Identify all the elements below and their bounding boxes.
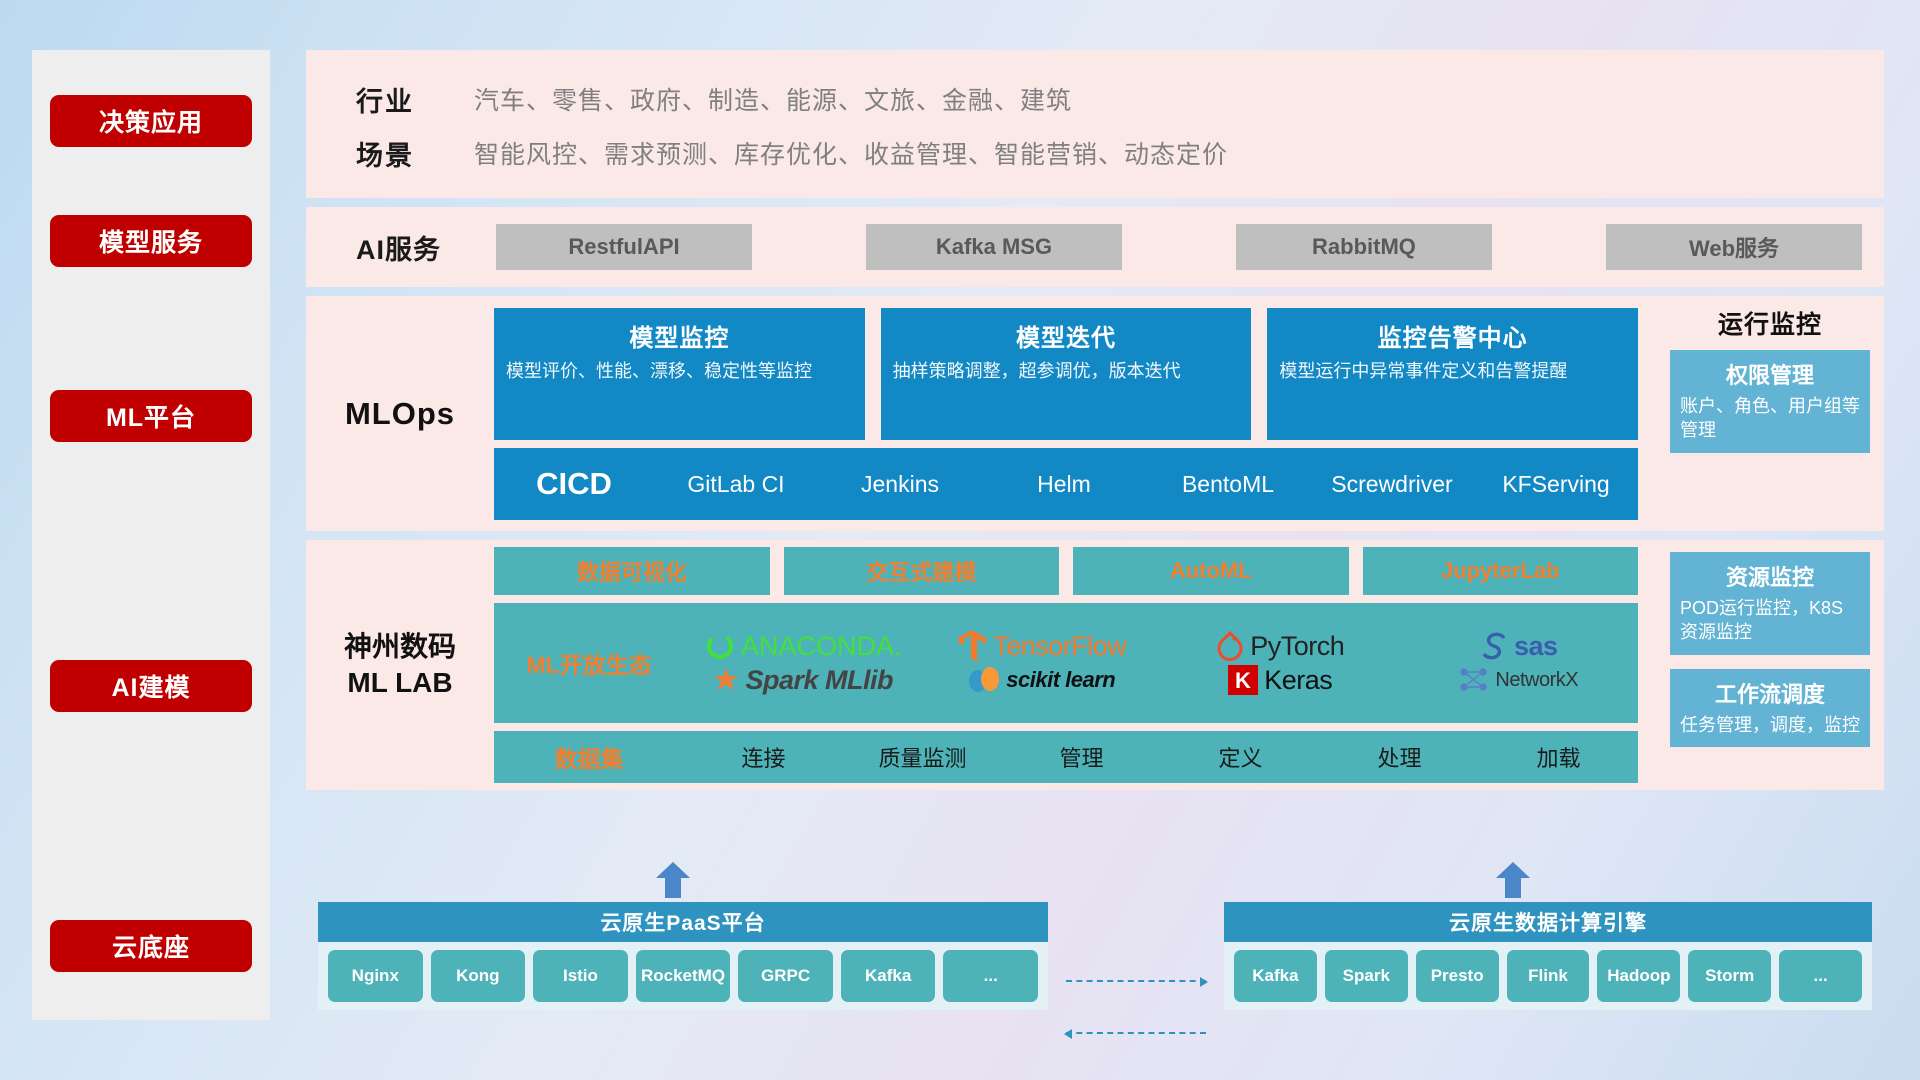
band-decision-applications: 行业 汽车、零售、政府、制造、能源、文旅、金融、建筑 场景 智能风控、需求预测、… [306, 50, 1884, 198]
sidebar-item-model-service[interactable]: 模型服务 [50, 215, 252, 267]
paas-title: 云原生PaaS平台 [318, 902, 1048, 942]
card-desc: 账户、角色、用户组等管理 [1680, 394, 1860, 443]
layer-rail: 决策应用 模型服务 ML平台 AI建模 云底座 [32, 50, 270, 1020]
cloud-block-paas: 云原生PaaS平台 Nginx Kong Istio RocketMQ GRPC… [318, 902, 1048, 1010]
sidebar-item-ai-modeling[interactable]: AI建模 [50, 660, 252, 712]
paas-chip-more[interactable]: ... [943, 950, 1038, 1002]
ml-lab-label-line2: ML LAB [306, 665, 494, 701]
monitor-card-permission[interactable]: 权限管理 账户、角色、用户组等管理 [1670, 350, 1870, 453]
spark-wordmark: Spark MLlib [745, 665, 893, 696]
monitor-column-top: 运行监控 权限管理 账户、角色、用户组等管理 [1656, 296, 1884, 531]
monitor-column-bottom: 资源监控 POD运行监控，K8S资源监控 工作流调度 任务管理，调度，监控 [1656, 540, 1884, 790]
mlops-body: 模型监控 模型评价、性能、漂移、稳定性等监控 模型迭代 抽样策略调整，超参调优，… [494, 308, 1650, 520]
pytorch-logo: PyTorch [1216, 631, 1344, 662]
card-title: 监控告警中心 [1279, 318, 1626, 353]
paas-chip-rocketmq[interactable]: RocketMQ [636, 950, 731, 1002]
cicd-bar: CICD GitLab CI Jenkins Helm BentoML Scre… [494, 448, 1638, 520]
sas-mark-icon [1480, 632, 1508, 660]
industry-label: 行业 [334, 80, 474, 119]
card-desc: POD运行监控，K8S资源监控 [1680, 596, 1860, 645]
networkx-mark-icon [1459, 666, 1489, 694]
service-chip-rabbitmq[interactable]: RabbitMQ [1236, 224, 1492, 270]
mlops-card-model-iteration[interactable]: 模型迭代 抽样策略调整，超参调优，版本迭代 [881, 308, 1252, 440]
cicd-item-kfserving[interactable]: KFServing [1474, 448, 1638, 520]
paas-chip-nginx[interactable]: Nginx [328, 950, 423, 1002]
tensorflow-wordmark: TensorFlow [993, 631, 1126, 662]
ai-service-chip-track: RestfulAPI Kafka MSG RabbitMQ Web服务 [496, 224, 1884, 270]
service-chip-kafka-msg[interactable]: Kafka MSG [866, 224, 1122, 270]
cloud-block-engine: 云原生数据计算引擎 Kafka Spark Presto Flink Hadoo… [1224, 902, 1872, 1010]
card-title: 权限管理 [1680, 358, 1860, 390]
tab-automl[interactable]: AutoML [1073, 547, 1349, 595]
networkx-logo: NetworkX [1459, 666, 1578, 694]
cicd-label: CICD [494, 466, 654, 502]
band-ai-services: AI服务 RestfulAPI Kafka MSG RabbitMQ Web服务 [306, 207, 1884, 287]
ml-lab-body: 数据可视化 交互式建模 AutoML JupyterLab ML开放生态 ANA… [494, 547, 1650, 783]
mlops-card-alert-center[interactable]: 监控告警中心 模型运行中异常事件定义和告警提醒 [1267, 308, 1638, 440]
mlops-left: MLOps 模型监控 模型评价、性能、漂移、稳定性等监控 模型迭代 抽样策略调整… [306, 296, 1650, 531]
monitor-card-workflow[interactable]: 工作流调度 任务管理，调度，监控 [1670, 669, 1870, 747]
band-mlops: MLOps 模型监控 模型评价、性能、漂移、稳定性等监控 模型迭代 抽样策略调整… [306, 296, 1884, 531]
service-chip-web-service[interactable]: Web服务 [1606, 224, 1862, 270]
networkx-wordmark: NetworkX [1495, 669, 1578, 692]
paas-chip-istio[interactable]: Istio [533, 950, 628, 1002]
cicd-item-screwdriver[interactable]: Screwdriver [1310, 448, 1474, 520]
rail-label: 模型服务 [99, 223, 203, 259]
industry-list: 汽车、零售、政府、制造、能源、文旅、金融、建筑 [474, 81, 1072, 117]
keras-mark-icon: K [1228, 665, 1258, 695]
ml-lab-left: 神州数码 ML LAB 数据可视化 交互式建模 AutoML JupyterLa… [306, 540, 1650, 790]
anaconda-mark-icon [705, 631, 735, 661]
industry-row: 行业 汽车、零售、政府、制造、能源、文旅、金融、建筑 [334, 72, 1884, 126]
sidebar-item-ml-platform[interactable]: ML平台 [50, 390, 252, 442]
mlops-card-model-monitoring[interactable]: 模型监控 模型评价、性能、漂移、稳定性等监控 [494, 308, 865, 440]
mlops-card-row: 模型监控 模型评价、性能、漂移、稳定性等监控 模型迭代 抽样策略调整，超参调优，… [494, 308, 1638, 440]
keras-wordmark: Keras [1264, 665, 1332, 696]
scikit-learn-wordmark: scikit learn [1006, 667, 1115, 693]
dataset-item-process[interactable]: 处理 [1320, 741, 1479, 773]
up-arrow-icon-paas [656, 862, 690, 898]
cicd-item-jenkins[interactable]: Jenkins [818, 448, 982, 520]
ai-service-label: AI服务 [356, 228, 496, 267]
engine-chip-track: Kafka Spark Presto Flink Hadoop Storm ..… [1224, 942, 1872, 1010]
dataset-item-manage[interactable]: 管理 [1002, 741, 1161, 773]
card-title: 工作流调度 [1680, 677, 1860, 709]
paas-chip-kafka[interactable]: Kafka [841, 950, 936, 1002]
rail-label: ML平台 [106, 398, 196, 434]
spark-star-icon [713, 667, 739, 693]
cloud-foundation-section: 云原生PaaS平台 Nginx Kong Istio RocketMQ GRPC… [306, 880, 1884, 1025]
paas-chip-track: Nginx Kong Istio RocketMQ GRPC Kafka ... [318, 942, 1048, 1010]
sas-logo: sas [1480, 631, 1558, 662]
paas-chip-kong[interactable]: Kong [431, 950, 526, 1002]
tensorflow-mark-icon [957, 629, 987, 663]
rail-label: 云底座 [112, 928, 190, 964]
dataset-bar: 数据集 连接 质量监测 管理 定义 处理 加载 [494, 731, 1638, 783]
dataset-item-define[interactable]: 定义 [1161, 741, 1320, 773]
sidebar-item-cloud-base[interactable]: 云底座 [50, 920, 252, 972]
engine-chip-kafka[interactable]: Kafka [1234, 950, 1317, 1002]
ml-ecosystem-label: ML开放生态 [494, 646, 684, 680]
cicd-item-bentoml[interactable]: BentoML [1146, 448, 1310, 520]
tab-interactive-modeling[interactable]: 交互式建模 [784, 547, 1060, 595]
dataset-label: 数据集 [494, 740, 684, 774]
sas-wordmark: sas [1514, 631, 1558, 662]
cicd-item-track: GitLab CI Jenkins Helm BentoML Screwdriv… [654, 448, 1638, 520]
anaconda-wordmark: ANACONDA. [741, 631, 902, 662]
rail-label: AI建模 [111, 668, 190, 704]
card-desc: 模型评价、性能、漂移、稳定性等监控 [506, 359, 853, 384]
engine-chip-flink[interactable]: Flink [1507, 950, 1590, 1002]
rail-label: 决策应用 [99, 103, 203, 139]
ml-ecosystem-logo-grid: ANACONDA. TensorFlow [684, 629, 1638, 697]
pytorch-wordmark: PyTorch [1250, 631, 1344, 662]
dataset-item-quality[interactable]: 质量监测 [843, 741, 1002, 773]
ml-lab-label: 神州数码 ML LAB [306, 629, 494, 702]
cicd-item-gitlab-ci[interactable]: GitLab CI [654, 448, 818, 520]
svg-text:K: K [1235, 668, 1251, 693]
card-desc: 抽样策略调整，超参调优，版本迭代 [893, 359, 1240, 384]
sidebar-item-decision-app[interactable]: 决策应用 [50, 95, 252, 147]
card-title: 模型监控 [506, 318, 853, 353]
scikit-learn-mark-icon [968, 666, 1000, 694]
tab-jupyterlab[interactable]: JupyterLab [1363, 547, 1639, 595]
engine-chip-more[interactable]: ... [1779, 950, 1862, 1002]
pytorch-mark-icon [1216, 631, 1244, 661]
monitor-title: 运行监控 [1670, 296, 1870, 350]
dashed-arrow-left [1066, 1032, 1206, 1034]
scenario-label: 场景 [334, 134, 474, 173]
card-desc: 任务管理，调度，监控 [1680, 713, 1860, 737]
card-title: 模型迭代 [893, 318, 1240, 353]
service-chip-restfulapi[interactable]: RestfulAPI [496, 224, 752, 270]
dataset-item-connect[interactable]: 连接 [684, 741, 843, 773]
architecture-main: 行业 汽车、零售、政府、制造、能源、文旅、金融、建筑 场景 智能风控、需求预测、… [306, 50, 1884, 790]
cicd-item-helm[interactable]: Helm [982, 448, 1146, 520]
engine-title: 云原生数据计算引擎 [1224, 902, 1872, 942]
engine-chip-storm[interactable]: Storm [1688, 950, 1771, 1002]
anaconda-logo: ANACONDA. [705, 631, 902, 662]
tensorflow-logo: TensorFlow [957, 629, 1126, 663]
engine-chip-spark[interactable]: Spark [1325, 950, 1408, 1002]
mlops-label: MLOps [306, 396, 494, 432]
scenario-list: 智能风控、需求预测、库存优化、收益管理、智能营销、动态定价 [474, 135, 1228, 171]
dashed-arrow-right [1066, 980, 1206, 982]
monitor-card-resource[interactable]: 资源监控 POD运行监控，K8S资源监控 [1670, 552, 1870, 655]
ml-ecosystem-bar: ML开放生态 ANACONDA. TensorFlo [494, 603, 1638, 723]
dataset-item-load[interactable]: 加载 [1479, 741, 1638, 773]
ml-lab-tab-row: 数据可视化 交互式建模 AutoML JupyterLab [494, 547, 1638, 595]
band-ml-lab: 神州数码 ML LAB 数据可视化 交互式建模 AutoML JupyterLa… [306, 540, 1884, 790]
ml-lab-label-line1: 神州数码 [306, 629, 494, 665]
card-desc: 模型运行中异常事件定义和告警提醒 [1279, 359, 1626, 384]
keras-logo: K Keras [1228, 665, 1332, 696]
paas-chip-grpc[interactable]: GRPC [738, 950, 833, 1002]
card-title: 资源监控 [1680, 560, 1860, 592]
spark-mllib-logo: Spark MLlib [713, 665, 893, 696]
tab-data-visualization[interactable]: 数据可视化 [494, 547, 770, 595]
scikit-learn-logo: scikit learn [968, 666, 1115, 694]
scenario-row: 场景 智能风控、需求预测、库存优化、收益管理、智能营销、动态定价 [334, 126, 1884, 180]
dataset-item-track: 连接 质量监测 管理 定义 处理 加载 [684, 741, 1638, 773]
engine-chip-presto[interactable]: Presto [1416, 950, 1499, 1002]
up-arrow-icon-engine [1496, 862, 1530, 898]
engine-chip-hadoop[interactable]: Hadoop [1597, 950, 1680, 1002]
